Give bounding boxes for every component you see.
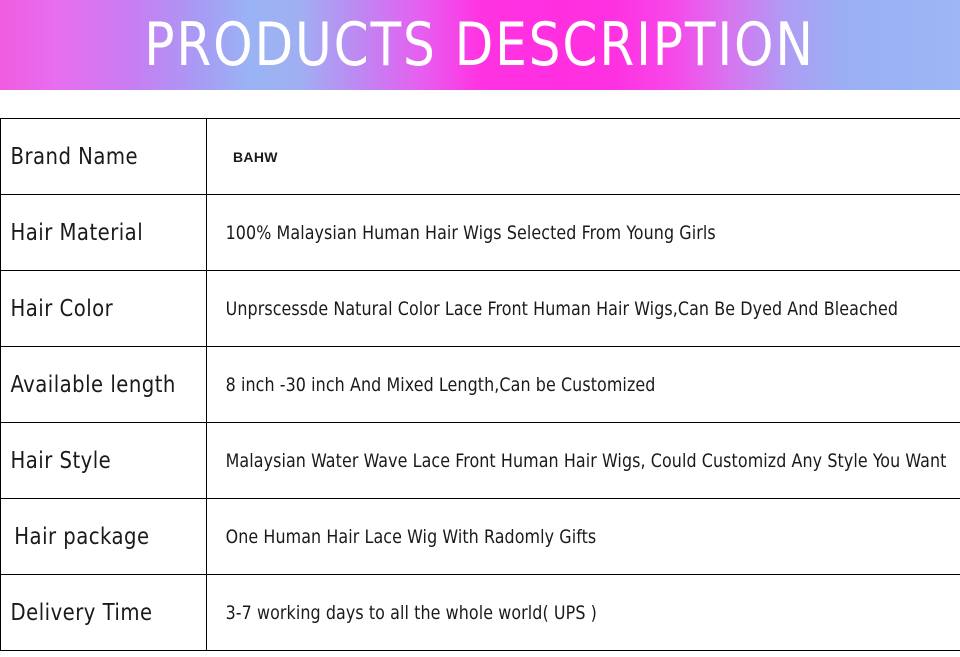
spec-value-available-length: 8 inch -30 inch And Mixed Length,Can be … [207, 374, 907, 396]
spec-value-hair-style: Malaysian Water Wave Lace Front Human Ha… [207, 450, 907, 472]
spec-value-hair-material: 100% Malaysian Human Hair Wigs Selected … [207, 222, 907, 244]
table-row: Hair Style Malaysian Water Wave Lace Fro… [1, 423, 960, 499]
spec-label-cell: Hair Color [1, 271, 207, 347]
spec-label-brand-name: Brand Name [1, 144, 196, 170]
spec-value-hair-color: Unprscessde Natural Color Lace Front Hum… [207, 298, 907, 320]
spec-label-delivery-time: Delivery Time [1, 600, 196, 626]
spec-label-cell: Delivery Time [1, 575, 207, 651]
spec-value-cell: One Human Hair Lace Wig With Radomly Gif… [207, 499, 960, 575]
spec-value-cell: 3-7 working days to all the whole world(… [207, 575, 960, 651]
spec-value-hair-package: One Human Hair Lace Wig With Radomly Gif… [207, 526, 907, 548]
spec-label-cell: Brand Name [1, 119, 207, 195]
spec-label-cell: Available length [1, 347, 207, 423]
table-row: Hair Material 100% Malaysian Human Hair … [1, 195, 960, 271]
spec-label-hair-package: Hair package [1, 524, 196, 550]
spec-label-cell: Hair Material [1, 195, 207, 271]
spec-label-available-length: Available length [1, 372, 196, 398]
spec-table-body: Brand Name BAHW Hair Material 100% Malay… [1, 119, 960, 651]
banner-title: PRODUCTS DESCRIPTION [145, 15, 816, 75]
spec-value-cell: Malaysian Water Wave Lace Front Human Ha… [207, 423, 960, 499]
table-row: Hair package One Human Hair Lace Wig Wit… [1, 499, 960, 575]
table-row: Available length 8 inch -30 inch And Mix… [1, 347, 960, 423]
table-row: Delivery Time 3-7 working days to all th… [1, 575, 960, 651]
spec-value-delivery-time: 3-7 working days to all the whole world(… [207, 602, 907, 624]
spec-label-cell: Hair package [1, 499, 207, 575]
spec-value-cell: 100% Malaysian Human Hair Wigs Selected … [207, 195, 960, 271]
table-row: Hair Color Unprscessde Natural Color Lac… [1, 271, 960, 347]
spec-value-cell: 8 inch -30 inch And Mixed Length,Can be … [207, 347, 960, 423]
spec-label-hair-material: Hair Material [1, 220, 196, 246]
spec-value-cell: Unprscessde Natural Color Lace Front Hum… [207, 271, 960, 347]
product-description-page: PRODUCTS DESCRIPTION Brand Name BAHW Hai… [0, 0, 960, 657]
products-description-banner: PRODUCTS DESCRIPTION [0, 0, 960, 90]
spec-label-hair-style: Hair Style [1, 448, 196, 474]
spec-label-cell: Hair Style [1, 423, 207, 499]
spec-value-cell: BAHW [207, 119, 960, 195]
spec-value-brand-name: BAHW [207, 149, 960, 165]
spec-label-hair-color: Hair Color [1, 296, 196, 322]
table-row: Brand Name BAHW [1, 119, 960, 195]
product-specification-table: Brand Name BAHW Hair Material 100% Malay… [0, 118, 960, 651]
